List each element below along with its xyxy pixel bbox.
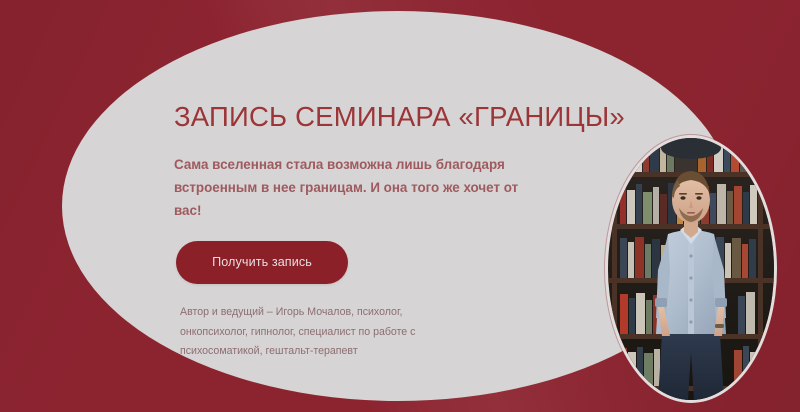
page-title: ЗАПИСЬ СЕМИНАРА «ГРАНИЦЫ» xyxy=(174,102,574,133)
hero-content: ЗАПИСЬ СЕМИНАРА «ГРАНИЦЫ» Сама вселенная… xyxy=(174,102,574,362)
hero-banner: ЗАПИСЬ СЕМИНАРА «ГРАНИЦЫ» Сама вселенная… xyxy=(0,0,800,412)
presenter-photo-illustration xyxy=(608,138,774,400)
author-credit: Автор и ведущий – Игорь Мочалов, психоло… xyxy=(180,303,430,362)
presenter-portrait xyxy=(608,138,774,400)
get-recording-button[interactable]: Получить запись xyxy=(176,241,348,284)
hero-subtitle: Сама вселенная стала возможна лишь благо… xyxy=(174,153,546,222)
